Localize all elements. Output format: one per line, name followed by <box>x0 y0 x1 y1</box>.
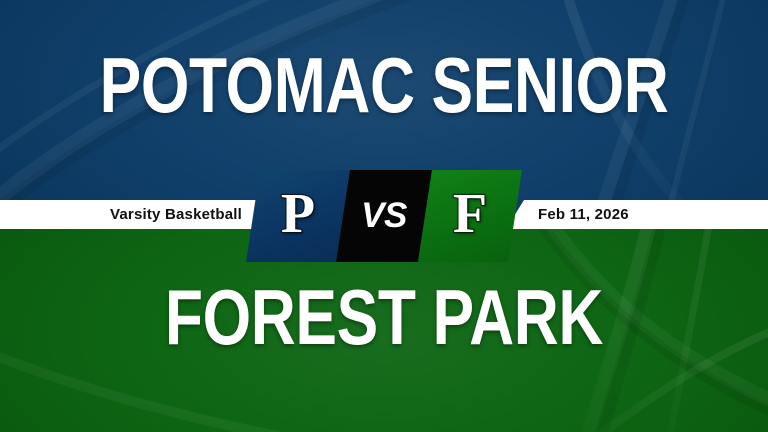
matchup-graphic: POTOMAC SENIOR FOREST PARK Varsity Baske… <box>0 0 768 432</box>
sport-label-band: Varsity Basketball <box>0 200 270 229</box>
home-team-initial: P <box>246 170 350 262</box>
game-date: Feb 11, 2026 <box>538 200 629 229</box>
versus-panel: VS <box>336 170 432 262</box>
away-team-initial: F <box>418 170 522 262</box>
sport-label: Varsity Basketball <box>110 200 242 229</box>
versus-label: VS <box>336 170 432 262</box>
home-team-emblem-panel: P <box>246 170 350 262</box>
away-team-emblem-panel: F <box>418 170 522 262</box>
away-team-title: FOREST PARK <box>77 276 691 358</box>
home-team-title: POTOMAC SENIOR <box>77 44 691 126</box>
date-band: Feb 11, 2026 <box>506 200 768 229</box>
